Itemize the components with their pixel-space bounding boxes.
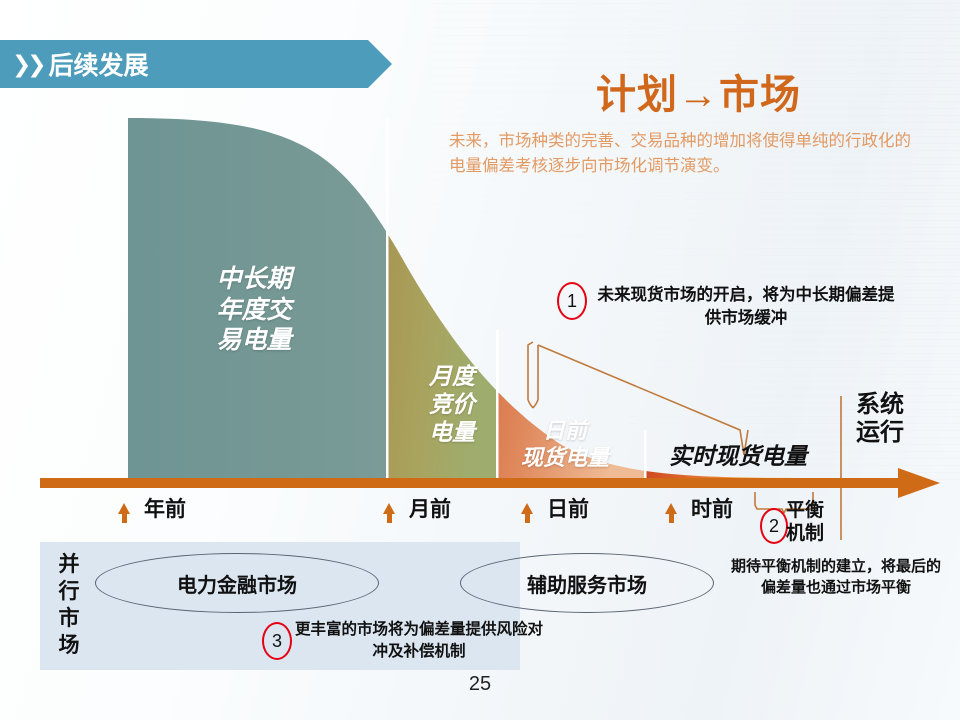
region-label-long-term: 中长期 年度交 易电量 — [190, 264, 318, 356]
axis-tick-label: 年前 — [144, 493, 186, 523]
axis-tick-month-ahead: 月前 — [383, 493, 451, 523]
up-arrow-icon — [521, 503, 533, 514]
slide-canvas: ❯❯ 后续发展 计划→市场 未来，市场种类的完善、交易品种的增加将使得单纯的行政… — [0, 0, 960, 720]
annotation-marker-2: 2 — [760, 508, 788, 544]
market-ellipse-ancillary[interactable]: 辅助服务市场 — [460, 553, 714, 613]
region-label-day-ahead: 日前 现货电量 — [500, 418, 630, 472]
page-title: 计划→市场 — [596, 62, 801, 120]
axis-tick-label: 时前 — [691, 493, 733, 523]
balance-mechanism-label: 平衡 机制 — [786, 500, 824, 546]
annotation-text-1: 未来现货市场的开启，将为中长期偏差提供市场缓冲 — [592, 284, 900, 331]
annotation-text-3: 更丰富的市场将为偏差量提供风险对冲及补偿机制 — [293, 619, 545, 664]
up-arrow-icon — [118, 503, 130, 514]
intro-paragraph: 未来，市场种类的完善、交易品种的增加将使得单纯的行政化的电量偏差考核逐步向市场化… — [449, 128, 919, 178]
parallel-market-title: 并 行 市 场 — [52, 552, 86, 660]
axis-tick-label: 月前 — [409, 493, 451, 523]
region-label-realtime: 实时现货电量 — [650, 443, 826, 471]
annotation-text-2: 期待平衡机制的建立，将最后的偏差量也通过市场平衡 — [728, 556, 944, 599]
market-ellipse-financial[interactable]: 电力金融市场 — [95, 553, 379, 613]
up-arrow-icon — [665, 503, 677, 514]
region-label-monthly: 月度 竞价 电量 — [404, 363, 500, 447]
section-banner-label: 后续发展 — [49, 46, 149, 82]
page-number: 25 — [0, 673, 960, 696]
annotation-marker-3: 3 — [262, 622, 292, 660]
divider-3 — [644, 430, 647, 478]
double-chevron-icon: ❯❯ — [12, 51, 43, 78]
divider-1 — [386, 118, 389, 478]
section-banner-text: ❯❯ 后续发展 — [12, 40, 149, 88]
system-operation-label: 系统 运行 — [856, 391, 904, 447]
axis-tick-year-ahead: 年前 — [118, 493, 186, 523]
axis-tick-label: 日前 — [547, 493, 589, 523]
annotation-marker-1: 1 — [557, 282, 587, 320]
axis-tick-day-ahead: 日前 — [521, 493, 589, 523]
axis-tick-hour-ahead: 时前 — [665, 493, 733, 523]
up-arrow-icon — [383, 503, 395, 514]
